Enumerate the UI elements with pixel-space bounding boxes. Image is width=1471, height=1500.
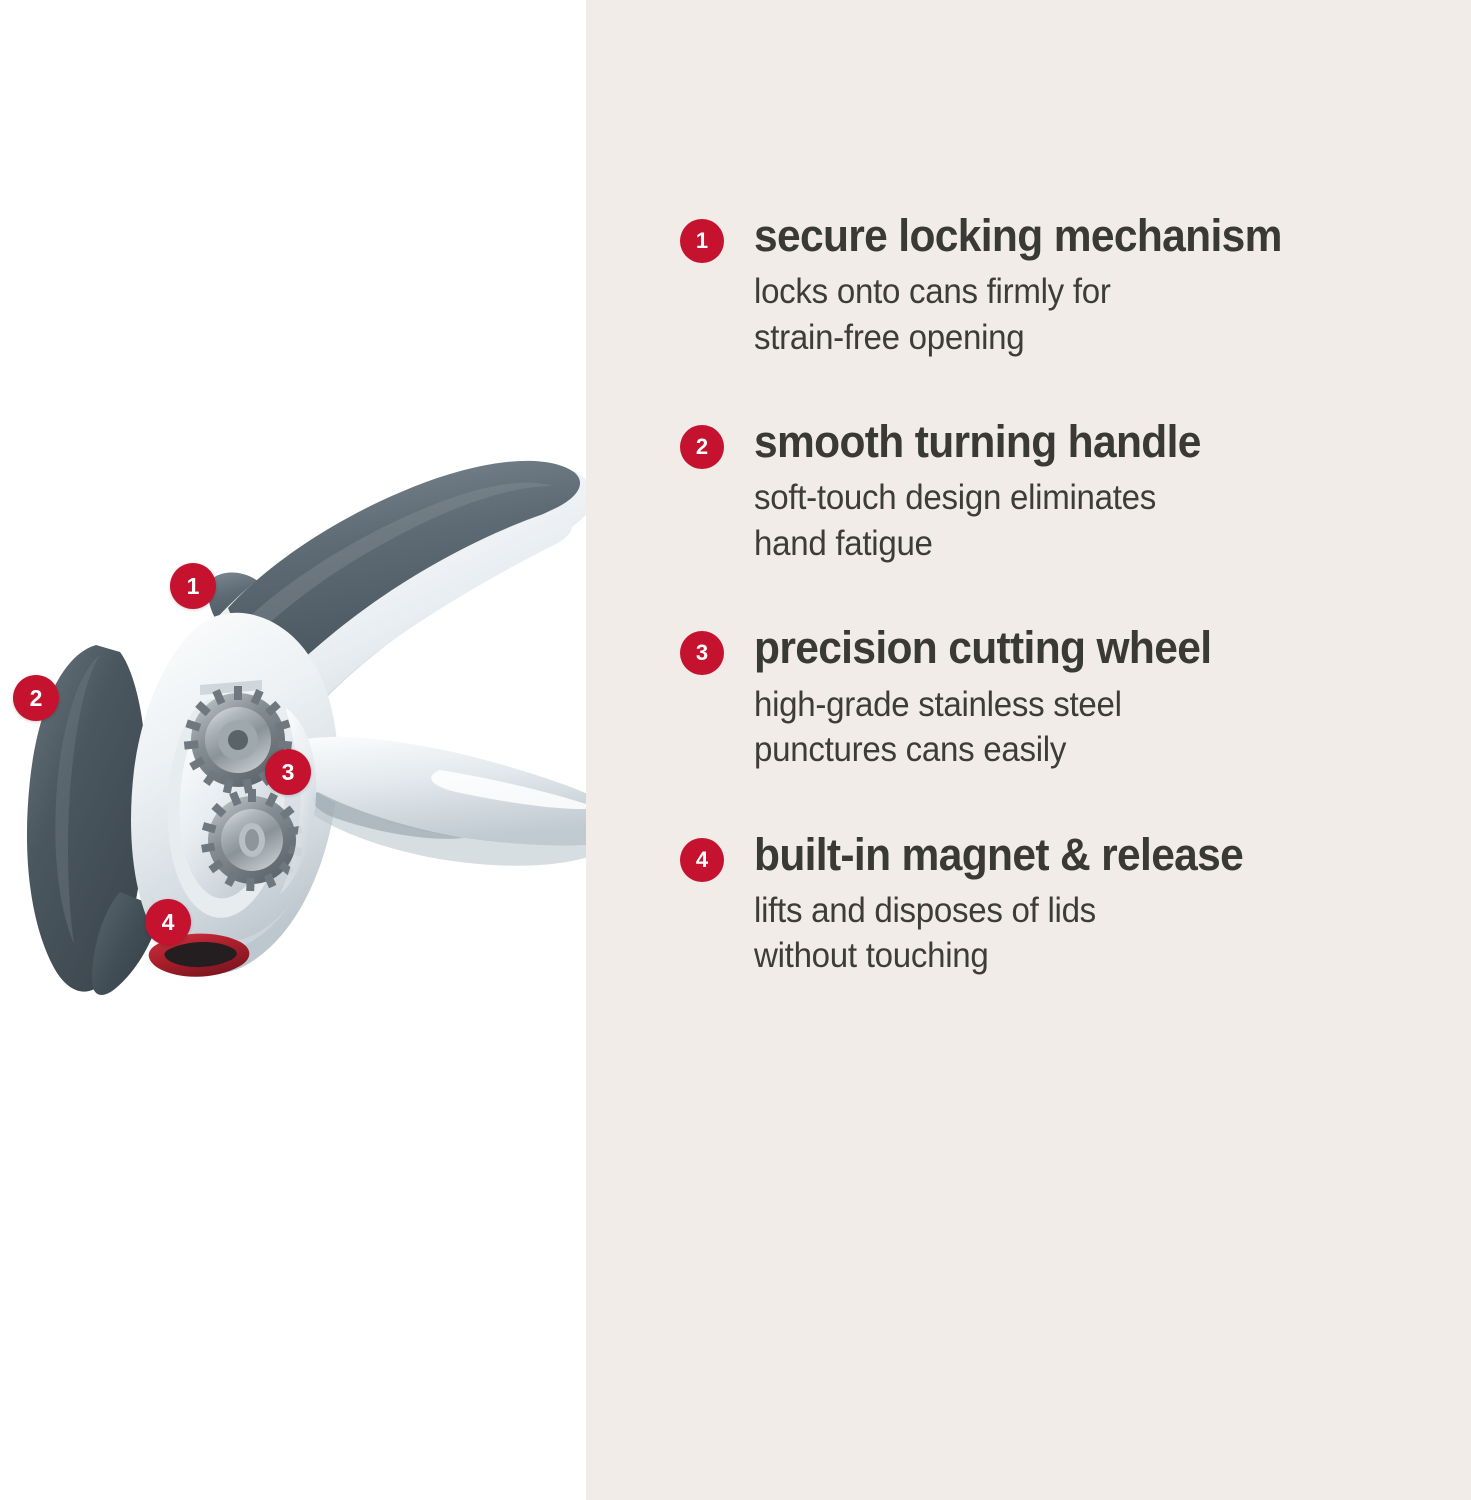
callout-marker-3[interactable]: 3	[265, 749, 311, 795]
feature-list-panel: 1 secure locking mechanism locks onto ca…	[586, 0, 1471, 1500]
can-opener-illustration	[0, 440, 640, 1000]
feature-badge-1: 1	[680, 219, 724, 263]
feature-title-3: precision cutting wheel	[754, 622, 1383, 674]
callout-marker-1[interactable]: 1	[170, 563, 216, 609]
callout-marker-2[interactable]: 2	[13, 675, 59, 721]
feature-list: 1 secure locking mechanism locks onto ca…	[680, 210, 1420, 979]
feature-header-2: 2 smooth turning handle	[680, 416, 1420, 468]
feature-badge-3: 3	[680, 631, 724, 675]
feature-description-2: soft-touch design eliminates hand fatigu…	[754, 475, 1383, 566]
feature-description-3: high-grade stainless steel punctures can…	[754, 682, 1383, 773]
feature-item-2: 2 smooth turning handle soft-touch desig…	[680, 416, 1420, 566]
feature-badge-2: 2	[680, 425, 724, 469]
feature-item-1: 1 secure locking mechanism locks onto ca…	[680, 210, 1420, 360]
feature-item-3: 3 precision cutting wheel high-grade sta…	[680, 622, 1420, 772]
feature-description-1: locks onto cans firmly for strain-free o…	[754, 269, 1383, 360]
feature-description-4: lifts and disposes of lids without touch…	[754, 888, 1383, 979]
feature-badge-4: 4	[680, 838, 724, 882]
feature-header-1: 1 secure locking mechanism	[680, 210, 1420, 262]
lower-handle	[300, 737, 634, 866]
product-photo	[0, 440, 640, 1000]
feature-title-1: secure locking mechanism	[754, 210, 1383, 262]
product-feature-infographic: 1 2 3 4 1 secure locking mechanism locks…	[0, 0, 1471, 1500]
feature-header-3: 3 precision cutting wheel	[680, 622, 1420, 674]
callout-marker-4[interactable]: 4	[145, 899, 191, 945]
feature-item-4: 4 built-in magnet & release lifts and di…	[680, 829, 1420, 979]
feature-title-4: built-in magnet & release	[754, 829, 1383, 881]
feature-header-4: 4 built-in magnet & release	[680, 829, 1420, 881]
feature-title-2: smooth turning handle	[754, 416, 1383, 468]
product-image-panel: 1 2 3 4	[0, 0, 586, 1500]
